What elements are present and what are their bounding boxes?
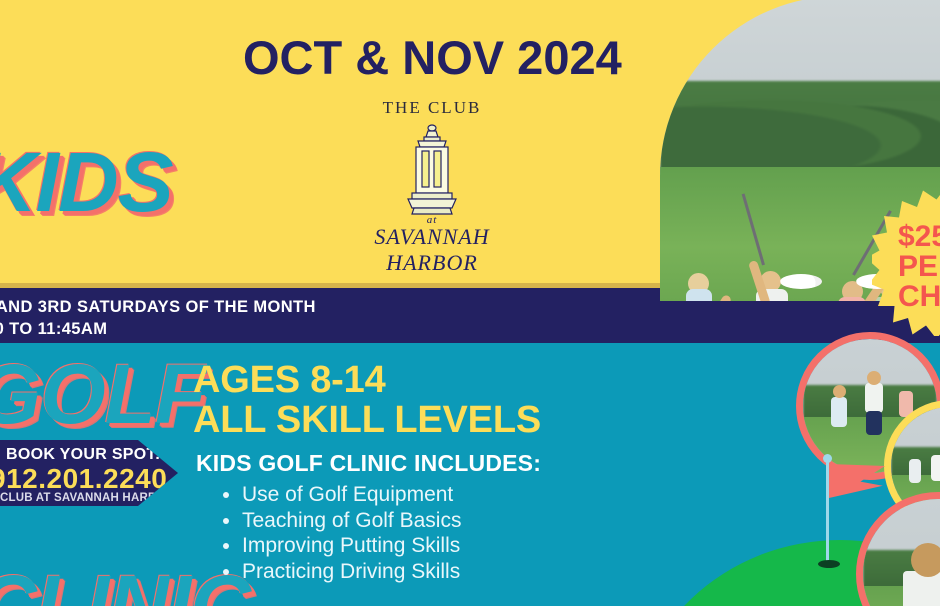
- schedule-line-1: 1ST AND 3RD SATURDAYS OF THE MONTH: [0, 296, 316, 318]
- booking-title: BOOK YOUR SPOT:: [6, 446, 160, 464]
- logo-bottom-text: at SAVANNAH HARBOR: [352, 216, 512, 276]
- golf-flag-knob: [823, 454, 832, 463]
- club-logo: THE CLUB at SAVANNAH HARBOR: [352, 98, 512, 258]
- golf-clinic-flyer: KIDS GOLF CLINIC OCT & NOV 2024 THE CLUB: [0, 0, 940, 606]
- list-item: Practicing Driving Skills: [242, 559, 461, 585]
- golf-flag-pole: [826, 458, 829, 564]
- includes-list: Use of Golf Equipment Teaching of Golf B…: [222, 482, 461, 584]
- photo-child: [931, 455, 940, 481]
- date-heading: OCT & NOV 2024: [243, 30, 622, 85]
- headline-line-3: CLINIC: [0, 570, 250, 606]
- price-badge-text: $25 PER CHILD: [898, 222, 940, 312]
- includes-heading: KIDS GOLF CLINIC INCLUDES:: [196, 450, 541, 477]
- list-item: Use of Golf Equipment: [242, 482, 461, 508]
- photo-treeline: [660, 81, 940, 173]
- booking-phone-number[interactable]: 912.201.2240: [0, 463, 167, 495]
- logo-club-name: SAVANNAH HARBOR: [374, 224, 489, 275]
- ages-heading: AGES 8-14 ALL SKILL LEVELS: [193, 360, 541, 440]
- list-item: Teaching of Golf Basics: [242, 508, 461, 534]
- photo-child-body: [903, 571, 940, 606]
- photo-child: [865, 383, 883, 413]
- lighthouse-icon: [352, 120, 512, 220]
- schedule-line-2: 10:00 TO 11:45AM: [0, 318, 316, 340]
- circle-photo-child-cheering: [856, 492, 940, 606]
- photo-child-legs: [866, 411, 882, 435]
- headline-line-1: KIDS: [0, 147, 250, 218]
- list-item: Improving Putting Skills: [242, 533, 461, 559]
- photo-child-head: [911, 543, 940, 577]
- schedule-text: 1ST AND 3RD SATURDAYS OF THE MONTH 10:00…: [0, 296, 316, 340]
- photo-golf-balls: [780, 274, 822, 289]
- logo-top-text: THE CLUB: [352, 98, 512, 118]
- photo-child-head: [867, 371, 881, 385]
- photo-child: [831, 397, 847, 427]
- photo-child: [909, 459, 921, 483]
- golf-hole: [818, 560, 840, 568]
- photo-child-head: [833, 385, 846, 398]
